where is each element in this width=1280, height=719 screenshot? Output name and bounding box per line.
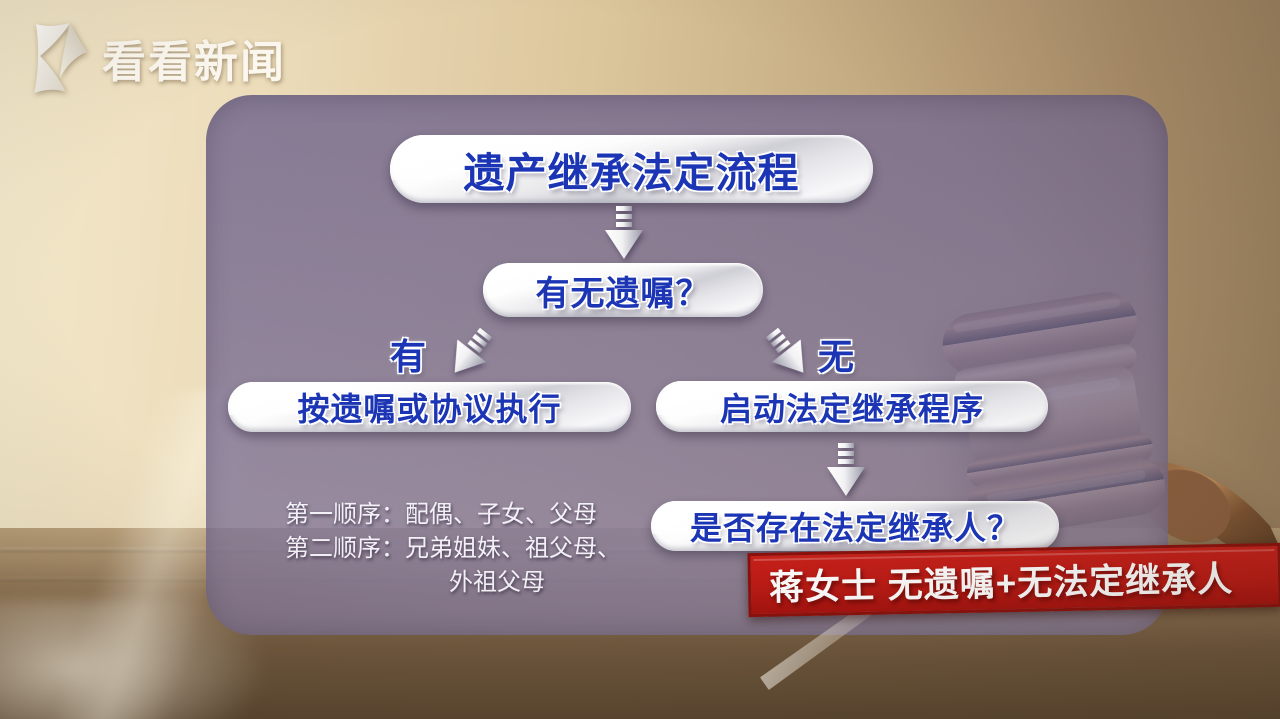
flowchart-title-label: 遗产继承法定流程: [464, 139, 800, 199]
decision-will-label: 有无遗嘱？: [536, 266, 711, 315]
decision-heir-label: 是否存在法定继承人？: [690, 503, 1020, 549]
decision-heir-box: 是否存在法定继承人？: [651, 501, 1059, 551]
vignette-overlay: [0, 0, 1280, 719]
screenshot-stage: 遗产继承法定流程 有无遗嘱？ 有: [0, 0, 1280, 719]
outcome-yes-label: 按遗嘱或协议执行: [297, 384, 561, 430]
outcome-no-label: 启动法定继承程序: [720, 384, 984, 430]
